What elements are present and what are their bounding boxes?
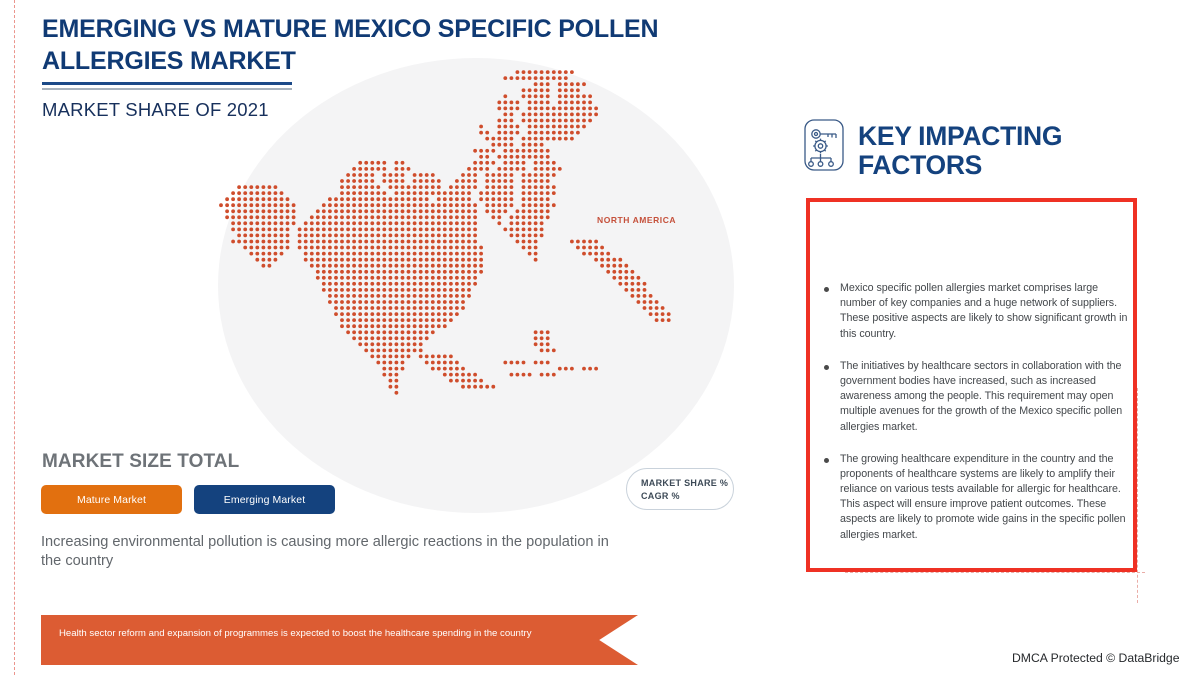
list-item-text: The growing healthcare expenditure in th… — [840, 452, 1129, 543]
market-size-total-heading: MARKET SIZE TOTAL — [42, 451, 239, 473]
list-item: The initiatives by healthcare sectors in… — [824, 359, 1129, 435]
dotted-map — [218, 58, 734, 513]
key-factors-list: Mexico specific pollen allergies market … — [824, 281, 1129, 560]
bullet-dot-icon — [824, 365, 829, 370]
bottom-dashed-guide — [845, 572, 1145, 573]
list-item: The growing healthcare expenditure in th… — [824, 452, 1129, 543]
left-dashed-guide — [14, 0, 15, 675]
map-region-label: NORTH AMERICA — [597, 215, 676, 225]
bullet-dot-icon — [824, 458, 829, 463]
market-share-label: MARKET SHARE % — [641, 478, 733, 488]
right-dashed-guide — [1137, 388, 1138, 603]
key-gear-network-icon — [803, 118, 845, 172]
footer-copyright: DMCA Protected © DataBridge — [1012, 651, 1180, 665]
list-item-text: Mexico specific pollen allergies market … — [840, 281, 1129, 342]
legend-chip-emerging-market[interactable]: Emerging Market — [194, 485, 335, 514]
bullet-dot-icon — [824, 287, 829, 292]
map-dots-svg — [218, 58, 734, 513]
key-impacting-factors-title: KEY IMPACTING FACTORS — [858, 122, 1148, 180]
market-legend: Mature Market Emerging Market — [41, 485, 335, 514]
highlight-banner-text: Health sector reform and expansion of pr… — [59, 627, 579, 641]
lede-paragraph: Increasing environmental pollution is ca… — [41, 533, 621, 572]
list-item: Mexico specific pollen allergies market … — [824, 281, 1129, 342]
market-share-cagr-pill: MARKET SHARE % CAGR % — [626, 468, 734, 510]
cagr-label: CAGR % — [641, 491, 733, 501]
list-item-text: The initiatives by healthcare sectors in… — [840, 359, 1129, 435]
legend-chip-mature-market[interactable]: Mature Market — [41, 485, 182, 514]
